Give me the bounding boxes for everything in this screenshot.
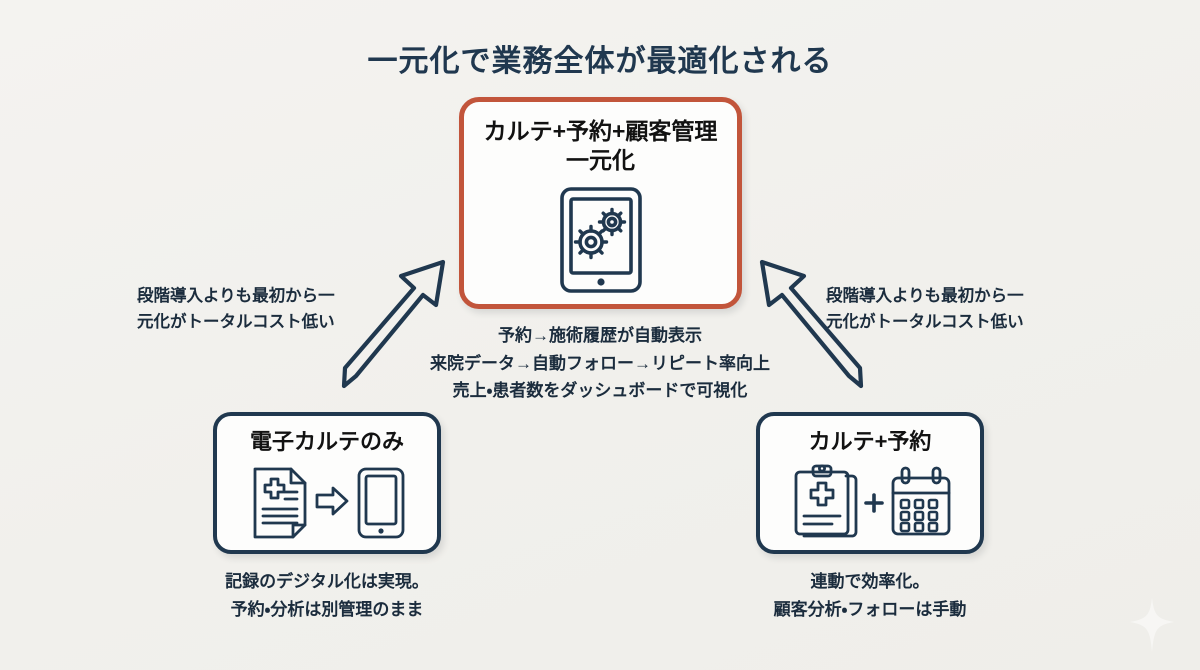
- unified-system-title-line1: カルテ+予約+顧客管理: [484, 117, 718, 146]
- left-annotation-line1: 段階導入よりも最初から一: [137, 283, 335, 309]
- diagram-canvas: 一元化で業務全体が最適化される カルテ+予約+顧客管理 一元化: [0, 0, 1200, 670]
- arrow-up-left-outline-icon: [745, 245, 875, 395]
- sparkle-star-icon: [1130, 598, 1174, 652]
- unified-system-box: カルテ+予約+顧客管理 一元化: [459, 97, 742, 309]
- ehr-plus-booking-caption-line2: 顧客分析・フォローは手動: [750, 596, 990, 624]
- page-title: 一元化で業務全体が最適化される: [0, 36, 1200, 80]
- ehr-only-caption-line2: 予約・分析は別管理のまま: [207, 596, 447, 624]
- ehr-plus-booking-caption: 連動で効率化。 顧客分析・フォローは手動: [750, 568, 990, 624]
- unified-system-title: カルテ+予約+顧客管理 一元化: [484, 117, 718, 176]
- unified-system-title-line2: 一元化: [484, 146, 718, 175]
- ehr-only-box: 電子カルテのみ: [213, 412, 441, 554]
- ehr-plus-booking-title: カルテ+予約: [809, 428, 932, 456]
- medical-document-to-tablet-icon: [217, 456, 437, 550]
- ehr-only-title: 電子カルテのみ: [250, 428, 404, 456]
- tablet-gears-icon: [464, 176, 737, 304]
- clipboard-plus-calendar-icon: [760, 456, 980, 550]
- ehr-only-caption: 記録のデジタル化は実現。 予約・分析は別管理のまま: [207, 568, 447, 624]
- left-annotation-line2: 元化がトータルコスト低い: [137, 309, 335, 335]
- ehr-plus-booking-caption-line1: 連動で効率化。: [750, 568, 990, 596]
- ehr-only-caption-line1: 記録のデジタル化は実現。: [207, 568, 447, 596]
- arrow-up-right-outline-icon: [330, 245, 460, 395]
- ehr-plus-booking-box: カルテ+予約: [756, 412, 984, 554]
- left-annotation: 段階導入よりも最初から一 元化がトータルコスト低い: [137, 283, 335, 336]
